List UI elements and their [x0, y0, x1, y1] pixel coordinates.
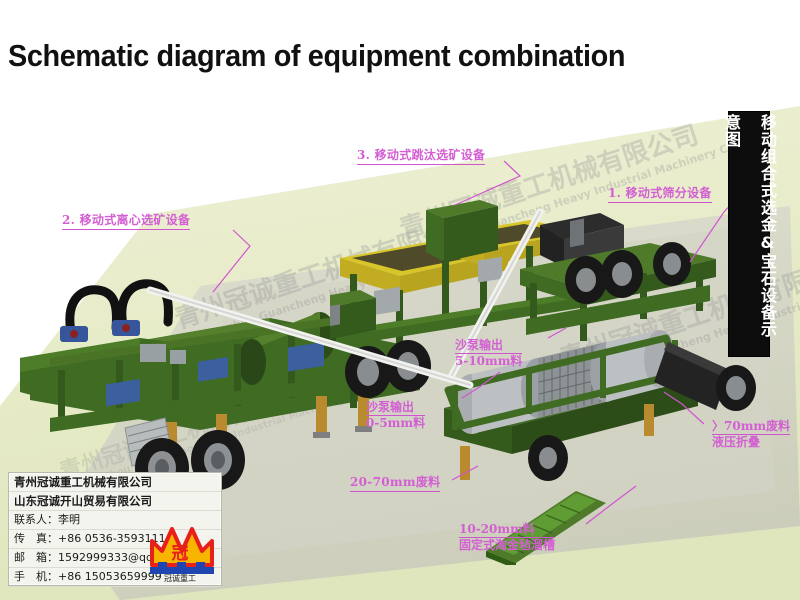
diagram-canvas: 青州冠诚重工机械有限公司 Qingzhou Guancheng Heavy In… [0, 0, 800, 600]
callout-equipment-3: 3. 移动式跳汰选矿设备 [357, 146, 485, 165]
logo-caption: 冠诚重工 [164, 573, 196, 583]
vertical-banner: 移动组合式选金&宝石设备示意图 [729, 112, 769, 356]
page-title: Schematic diagram of equipment combinati… [8, 38, 625, 74]
company-info-card: 青州冠诚重工机械有限公司 山东冠诚开山贸易有限公司 联系人：李明 传 真：+86… [8, 472, 222, 586]
svg-text:冠: 冠 [172, 544, 189, 564]
company-name-2: 山东冠诚开山贸易有限公司 [9, 492, 221, 511]
vertical-banner-text: 移动组合式选金&宝石设备示意图 [731, 114, 767, 354]
company-crown-logo: 冠 冠诚重工 [146, 521, 218, 583]
callout-pump-output-0-5: 沙泵输出 0-5mm料 [366, 400, 425, 431]
callout-waste-over-70: 〉70mm废料 液压折叠 [712, 419, 790, 450]
callout-equipment-2: 2. 移动式离心选矿设备 [62, 211, 190, 230]
company-name-1: 青州冠诚重工机械有限公司 [9, 473, 221, 492]
callout-waste-20-70: 20-70mm废料 [350, 473, 440, 492]
callout-pump-output-5-10: 沙泵输出 5-10mm料 [455, 338, 522, 369]
callout-fixed-sluice: 10-20mm料 固定式淘金毡溜槽 [459, 522, 555, 553]
callout-equipment-1: 1. 移动式筛分设备 [608, 184, 712, 203]
